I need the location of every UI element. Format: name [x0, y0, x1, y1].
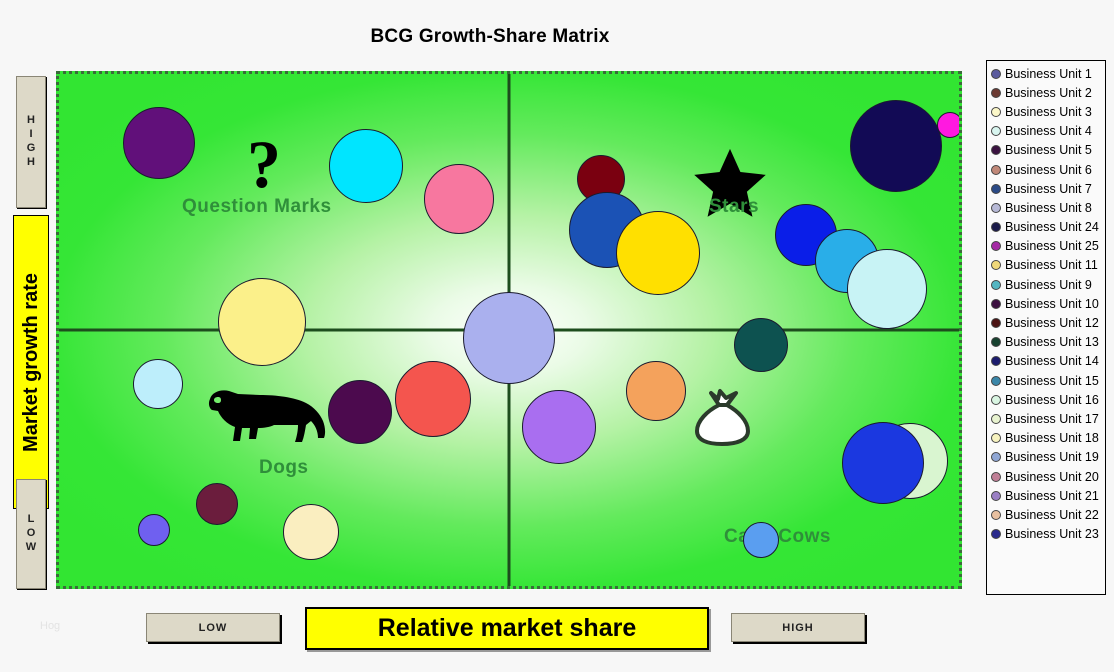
legend-item[interactable]: Business Unit 21 — [991, 486, 1105, 505]
legend-marker-icon — [991, 452, 1001, 462]
legend-marker-icon — [991, 145, 1001, 155]
legend-marker-icon — [991, 318, 1001, 328]
legend-label: Business Unit 15 — [1005, 374, 1099, 388]
x-axis-low-label: LOW — [146, 613, 280, 642]
legend-label: Business Unit 7 — [1005, 182, 1092, 196]
bubble-business-unit-22[interactable] — [842, 422, 924, 504]
legend-item[interactable]: Business Unit 14 — [991, 352, 1105, 371]
legend-item[interactable]: Business Unit 25 — [991, 237, 1105, 256]
legend-label: Business Unit 13 — [1005, 335, 1099, 349]
legend-label: Business Unit 1 — [1005, 67, 1092, 81]
bubble-business-unit-20[interactable] — [283, 504, 339, 560]
legend-item[interactable]: Business Unit 6 — [991, 160, 1105, 179]
legend-label: Business Unit 3 — [1005, 105, 1092, 119]
legend-item[interactable]: Business Unit 4 — [991, 122, 1105, 141]
legend-label: Business Unit 6 — [1005, 163, 1092, 177]
bubble-business-unit-10[interactable] — [463, 292, 555, 384]
bubble-business-unit-9[interactable] — [218, 278, 306, 366]
legend-item[interactable]: Business Unit 19 — [991, 448, 1105, 467]
legend-item[interactable]: Business Unit 22 — [991, 505, 1105, 524]
legend-label: Business Unit 23 — [1005, 527, 1099, 541]
legend-marker-icon — [991, 510, 1001, 520]
quadrant-label-dogs: Dogs — [259, 457, 309, 479]
legend-item[interactable]: Business Unit 15 — [991, 371, 1105, 390]
legend-item[interactable]: Business Unit 24 — [991, 218, 1105, 237]
x-axis-title: Relative market share — [305, 607, 709, 650]
legend-label: Business Unit 4 — [1005, 124, 1092, 138]
legend-marker-icon — [991, 69, 1001, 79]
bubble-business-unit-6[interactable] — [616, 211, 700, 295]
legend-marker-icon — [991, 280, 1001, 290]
legend-item[interactable]: Business Unit 5 — [991, 141, 1105, 160]
bubble-business-unit-12[interactable] — [734, 318, 788, 372]
bubble-business-unit-19[interactable] — [138, 514, 170, 546]
legend-label: Business Unit 9 — [1005, 278, 1092, 292]
bubble-business-unit-3[interactable] — [424, 164, 494, 234]
bubble-business-unit-23[interactable] — [743, 522, 779, 558]
x-axis-high-label: HIGH — [731, 613, 865, 642]
legend-marker-icon — [991, 395, 1001, 405]
bubble-business-unit-2[interactable] — [329, 129, 403, 203]
legend-label: Business Unit 12 — [1005, 316, 1099, 330]
y-axis-low-text: LOW — [25, 513, 37, 555]
legend-item[interactable]: Business Unit 3 — [991, 102, 1105, 121]
legend-item[interactable]: Business Unit 16 — [991, 390, 1105, 409]
bubble-business-unit-15[interactable] — [395, 361, 471, 437]
question-mark-icon: ? — [247, 130, 281, 198]
legend-item[interactable]: Business Unit 8 — [991, 198, 1105, 217]
legend-marker-icon — [991, 126, 1001, 136]
legend-marker-icon — [991, 88, 1001, 98]
legend-marker-icon — [991, 165, 1001, 175]
legend-label: Business Unit 20 — [1005, 470, 1099, 484]
bubble-business-unit-14[interactable] — [328, 380, 392, 444]
legend-marker-icon — [991, 107, 1001, 117]
legend-item[interactable]: Business Unit 1 — [991, 64, 1105, 83]
bubble-business-unit-11[interactable] — [847, 249, 927, 329]
legend-label: Business Unit 2 — [1005, 86, 1092, 100]
legend-item[interactable]: Business Unit 20 — [991, 467, 1105, 486]
legend-marker-icon — [991, 414, 1001, 424]
y-axis-high-label: HIGH — [16, 76, 46, 208]
legend-marker-icon — [991, 222, 1001, 232]
y-axis-low-label: LOW — [16, 479, 46, 589]
legend-marker-icon — [991, 376, 1001, 386]
legend-item[interactable]: Business Unit 7 — [991, 179, 1105, 198]
legend-item[interactable]: Business Unit 11 — [991, 256, 1105, 275]
bubble-business-unit-25[interactable] — [937, 112, 962, 138]
legend-item[interactable]: Business Unit 10 — [991, 294, 1105, 313]
y-axis-high-text: HIGH — [25, 114, 37, 170]
legend-label: Business Unit 21 — [1005, 489, 1099, 503]
legend[interactable]: Business Unit 1Business Unit 2Business U… — [986, 60, 1106, 595]
legend-label: Business Unit 16 — [1005, 393, 1099, 407]
plot-area[interactable]: ? Question Marks Stars Dogs Cash Cows — [56, 71, 962, 589]
bubble-business-unit-16[interactable] — [626, 361, 686, 421]
legend-label: Business Unit 11 — [1005, 258, 1098, 272]
watermark: Hog — [40, 620, 60, 632]
bubble-business-unit-13[interactable] — [133, 359, 183, 409]
legend-marker-icon — [991, 529, 1001, 539]
quadrant-label-stars: Stars — [709, 196, 759, 218]
legend-item[interactable]: Business Unit 23 — [991, 525, 1105, 544]
legend-label: Business Unit 18 — [1005, 431, 1099, 445]
legend-label: Business Unit 19 — [1005, 450, 1099, 464]
legend-item[interactable]: Business Unit 18 — [991, 429, 1105, 448]
legend-marker-icon — [991, 337, 1001, 347]
legend-item[interactable]: Business Unit 9 — [991, 275, 1105, 294]
legend-marker-icon — [991, 260, 1001, 270]
legend-marker-icon — [991, 184, 1001, 194]
legend-marker-icon — [991, 299, 1001, 309]
legend-label: Business Unit 10 — [1005, 297, 1099, 311]
legend-item[interactable]: Business Unit 12 — [991, 313, 1105, 332]
legend-marker-icon — [991, 491, 1001, 501]
legend-item[interactable]: Business Unit 13 — [991, 333, 1105, 352]
legend-label: Business Unit 17 — [1005, 412, 1099, 426]
bubble-business-unit-17[interactable] — [522, 390, 596, 464]
legend-item[interactable]: Business Unit 17 — [991, 409, 1105, 428]
legend-label: Business Unit 22 — [1005, 508, 1099, 522]
bubble-business-unit-18[interactable] — [196, 483, 238, 525]
legend-marker-icon — [991, 472, 1001, 482]
dog-icon — [202, 381, 338, 457]
bubble-business-unit-24[interactable] — [850, 100, 942, 192]
legend-label: Business Unit 8 — [1005, 201, 1092, 215]
bubble-business-unit-1[interactable] — [123, 107, 195, 179]
quadrant-label-question-marks: Question Marks — [182, 196, 332, 218]
legend-marker-icon — [991, 241, 1001, 251]
money-bag-icon — [689, 387, 759, 453]
legend-label: Business Unit 14 — [1005, 354, 1099, 368]
page-title: BCG Growth-Share Matrix — [0, 26, 980, 48]
legend-marker-icon — [991, 203, 1001, 213]
legend-item[interactable]: Business Unit 2 — [991, 83, 1105, 102]
legend-label: Business Unit 5 — [1005, 143, 1092, 157]
legend-label: Business Unit 24 — [1005, 220, 1099, 234]
legend-label: Business Unit 25 — [1005, 239, 1099, 253]
y-axis-title: Market growth rate — [13, 215, 49, 509]
y-axis-title-text: Market growth rate — [20, 273, 43, 452]
legend-marker-icon — [991, 356, 1001, 366]
legend-marker-icon — [991, 433, 1001, 443]
